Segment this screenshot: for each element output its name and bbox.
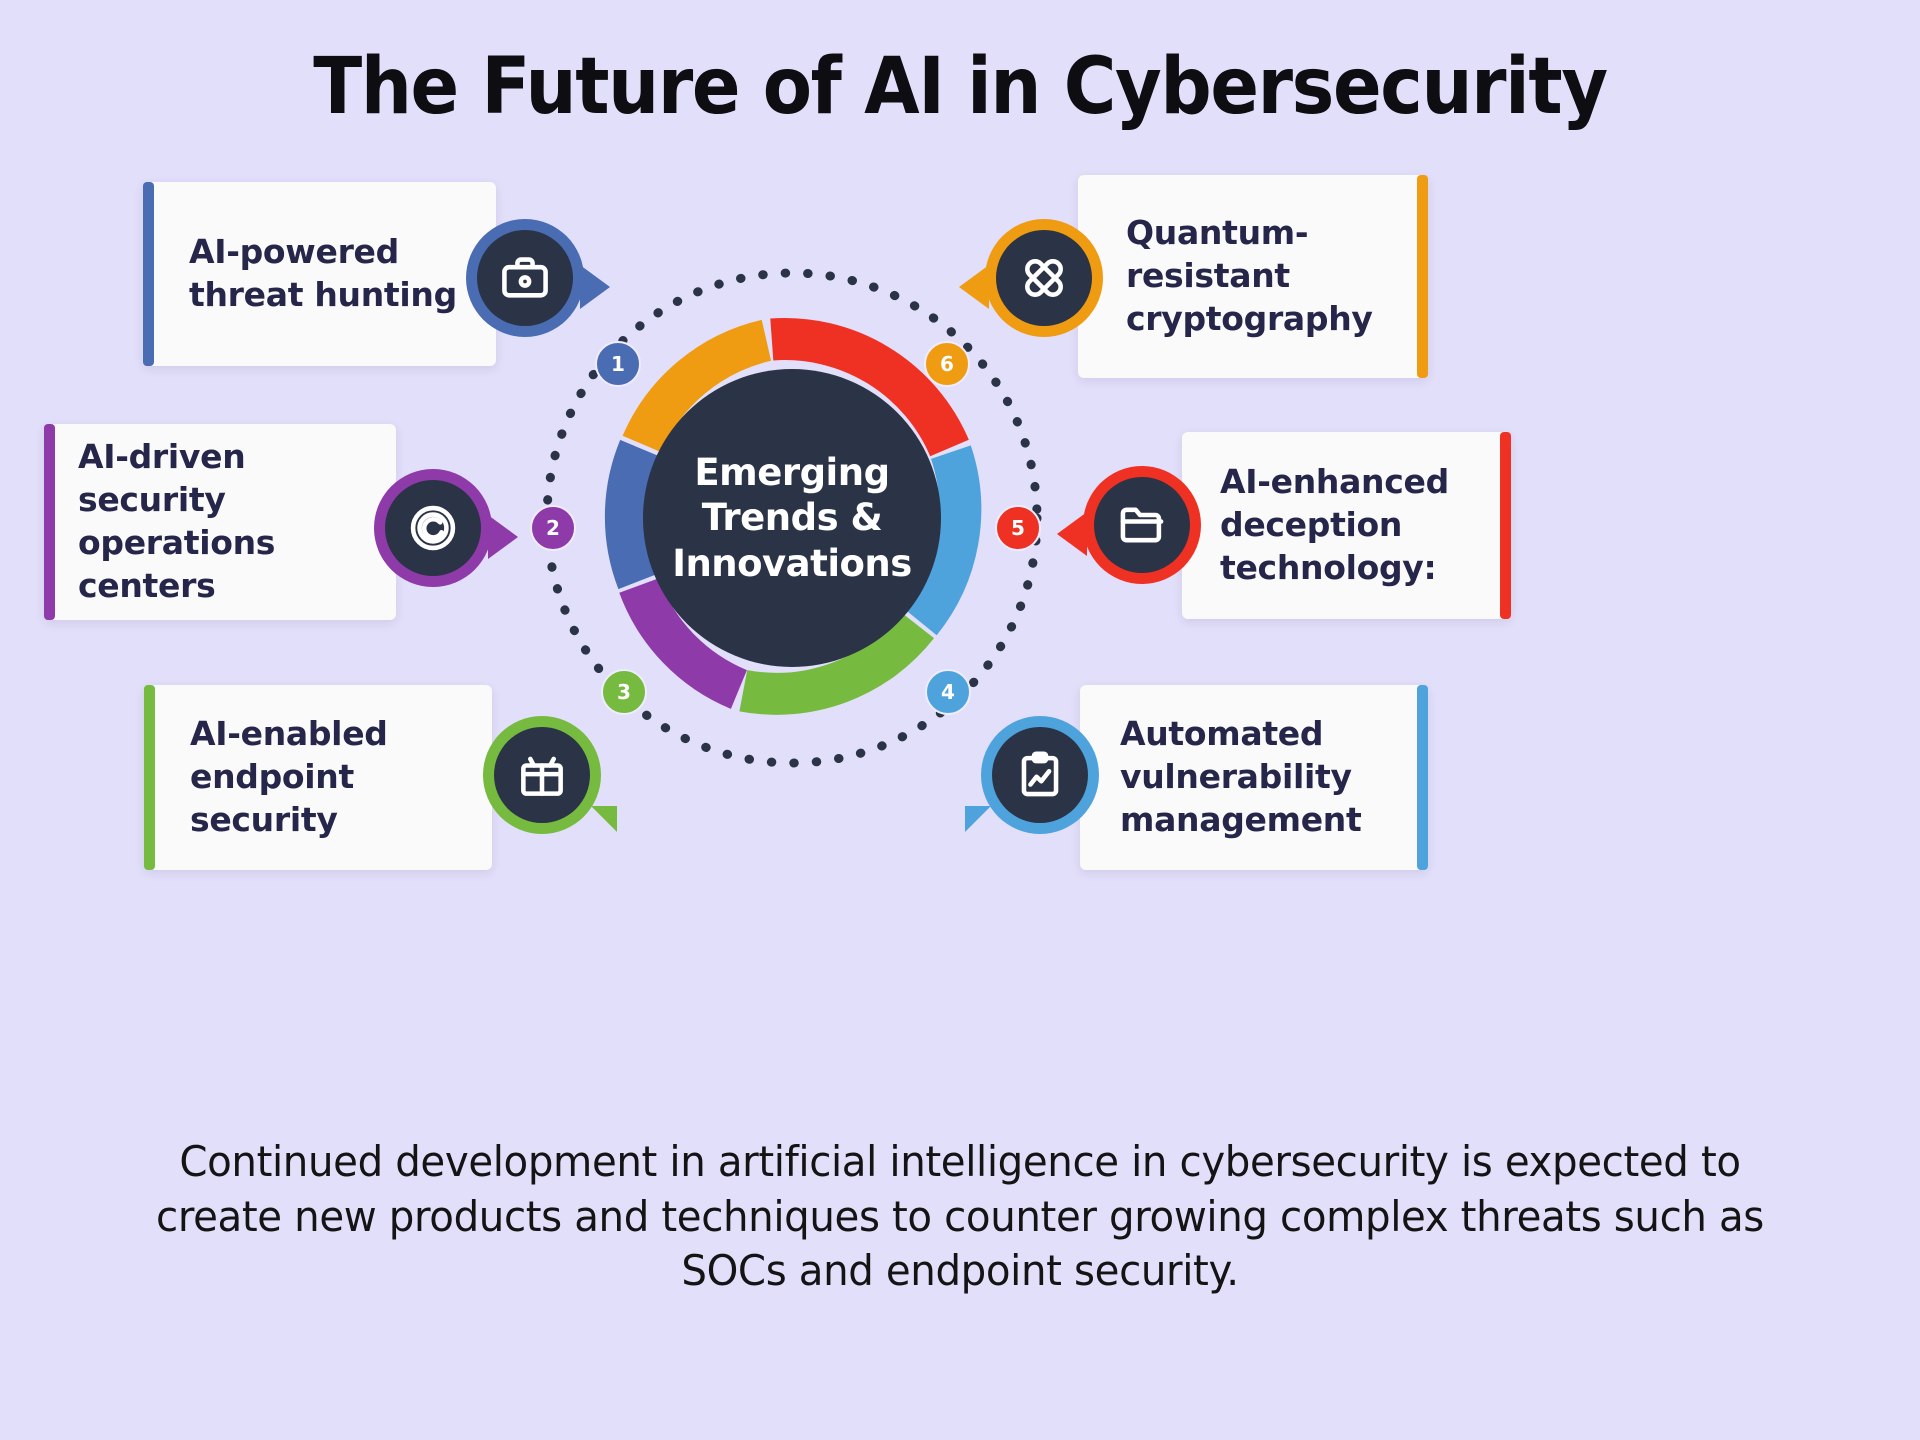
bubble-tail-4	[965, 806, 991, 832]
number-badge-5: 5	[995, 505, 1041, 551]
card-item-6[interactable]: Quantum-resistant cryptography	[1078, 175, 1428, 378]
card-item-2[interactable]: AI-driven security operations centers	[44, 424, 396, 620]
icon-holder-6	[996, 230, 1092, 326]
card-accent-3	[144, 685, 155, 870]
card-label-1: AI-powered threat hunting	[143, 231, 496, 317]
icon-holder-3	[494, 727, 590, 823]
infographic-stage: Emerging Trends & Innovations AI-powered…	[0, 0, 1920, 1130]
card-accent-2	[44, 424, 55, 620]
icon-holder-1	[477, 230, 573, 326]
card-item-4[interactable]: Automated vulnerability management	[1080, 685, 1428, 870]
bubble-tail-5	[1057, 512, 1087, 556]
number-badge-1: 1	[595, 341, 641, 387]
number-badge-text-4: 4	[941, 680, 955, 704]
card-item-5[interactable]: AI-enhanced deception technology:	[1182, 432, 1511, 619]
icon-bubble-2[interactable]	[374, 469, 492, 587]
card-item-1[interactable]: AI-powered threat hunting	[143, 182, 496, 366]
icon-bubble-3[interactable]	[483, 716, 601, 834]
card-label-3: AI-enabled endpoint security	[144, 713, 492, 842]
icon-bubble-1[interactable]	[466, 219, 584, 337]
footer-caption: Continued development in artificial inte…	[134, 1135, 1785, 1299]
icon-bubble-4[interactable]	[981, 716, 1099, 834]
icon-bubble-6[interactable]	[985, 219, 1103, 337]
toolbox-icon	[499, 252, 551, 304]
gift-box-icon	[516, 749, 568, 801]
number-badge-text-1: 1	[611, 352, 625, 376]
clipboard-chart-icon	[1014, 749, 1066, 801]
card-accent-4	[1417, 685, 1428, 870]
card-label-6: Quantum-resistant cryptography	[1078, 212, 1428, 341]
icon-holder-2	[385, 480, 481, 576]
icon-bubble-5[interactable]	[1083, 466, 1201, 584]
center-line-2: Trends &	[702, 495, 883, 540]
number-badge-text-5: 5	[1011, 516, 1025, 540]
card-accent-6	[1417, 175, 1428, 378]
donut-segment-1	[626, 448, 640, 582]
number-badge-text-6: 6	[940, 352, 954, 376]
number-badge-3: 3	[601, 669, 647, 715]
card-label-2: AI-driven security operations centers	[44, 436, 396, 608]
number-badge-6: 6	[924, 341, 970, 387]
center-line-1: Emerging	[694, 450, 889, 495]
number-badge-text-2: 2	[546, 516, 560, 540]
donut-center-label: Emerging Trends & Innovations	[643, 369, 941, 667]
crossed-bandage-icon	[1018, 252, 1070, 304]
spiral-target-icon	[407, 502, 459, 554]
bubble-tail-1	[580, 265, 610, 309]
card-label-5: AI-enhanced deception technology:	[1182, 461, 1511, 590]
number-badge-text-3: 3	[617, 680, 631, 704]
card-accent-1	[143, 182, 154, 366]
number-badge-4: 4	[925, 669, 971, 715]
number-badge-2: 2	[530, 505, 576, 551]
bubble-tail-6	[959, 265, 989, 309]
center-line-3: Innovations	[672, 541, 912, 586]
folder-icon	[1116, 499, 1168, 551]
card-item-3[interactable]: AI-enabled endpoint security	[144, 685, 492, 870]
card-accent-5	[1500, 432, 1511, 619]
bubble-tail-3	[591, 806, 617, 832]
bubble-tail-2	[488, 515, 518, 559]
card-label-4: Automated vulnerability management	[1080, 713, 1428, 842]
icon-holder-5	[1094, 477, 1190, 573]
icon-holder-4	[992, 727, 1088, 823]
